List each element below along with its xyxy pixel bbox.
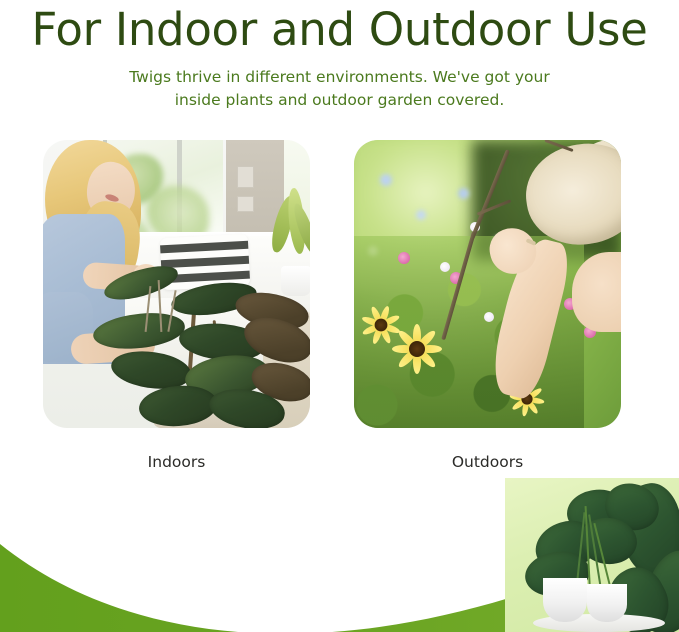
- yellow-daisy-icon: [363, 307, 400, 344]
- white-pot: [587, 584, 627, 622]
- indoor-living-room-scene: [43, 140, 310, 428]
- indoor-plant-care-photo: [43, 140, 310, 428]
- subtitle-line-2: inside plants and outdoor garden covered…: [0, 89, 679, 112]
- indoors-card[interactable]: [43, 140, 310, 428]
- footer-banner: Twigs ❀: [0, 478, 679, 632]
- rubber-plant: [93, 290, 310, 428]
- outdoors-caption: Outdoors: [354, 452, 621, 472]
- page-root: For Indoor and Outdoor Use Twigs thrive …: [0, 0, 679, 632]
- pink-flower-icon: [398, 252, 410, 264]
- wall-frame: [237, 166, 254, 188]
- yellow-daisy-icon: [394, 326, 440, 372]
- white-pot: [543, 578, 587, 622]
- wall-frame: [237, 196, 254, 212]
- white-flower-icon: [440, 262, 450, 272]
- outdoor-garden-photo: [354, 140, 621, 428]
- decorative-plants-panel: [505, 478, 679, 632]
- subtitle-line-1: Twigs thrive in different environments. …: [0, 66, 679, 89]
- page-subtitle: Twigs thrive in different environments. …: [0, 66, 679, 111]
- page-title: For Indoor and Outdoor Use: [0, 3, 679, 57]
- garden-scene: [354, 140, 621, 428]
- feature-cards: [0, 140, 679, 430]
- outdoors-card[interactable]: [354, 140, 621, 428]
- white-flower-icon: [484, 312, 494, 322]
- indoors-caption: Indoors: [43, 452, 310, 472]
- thin-stakes: [143, 280, 187, 332]
